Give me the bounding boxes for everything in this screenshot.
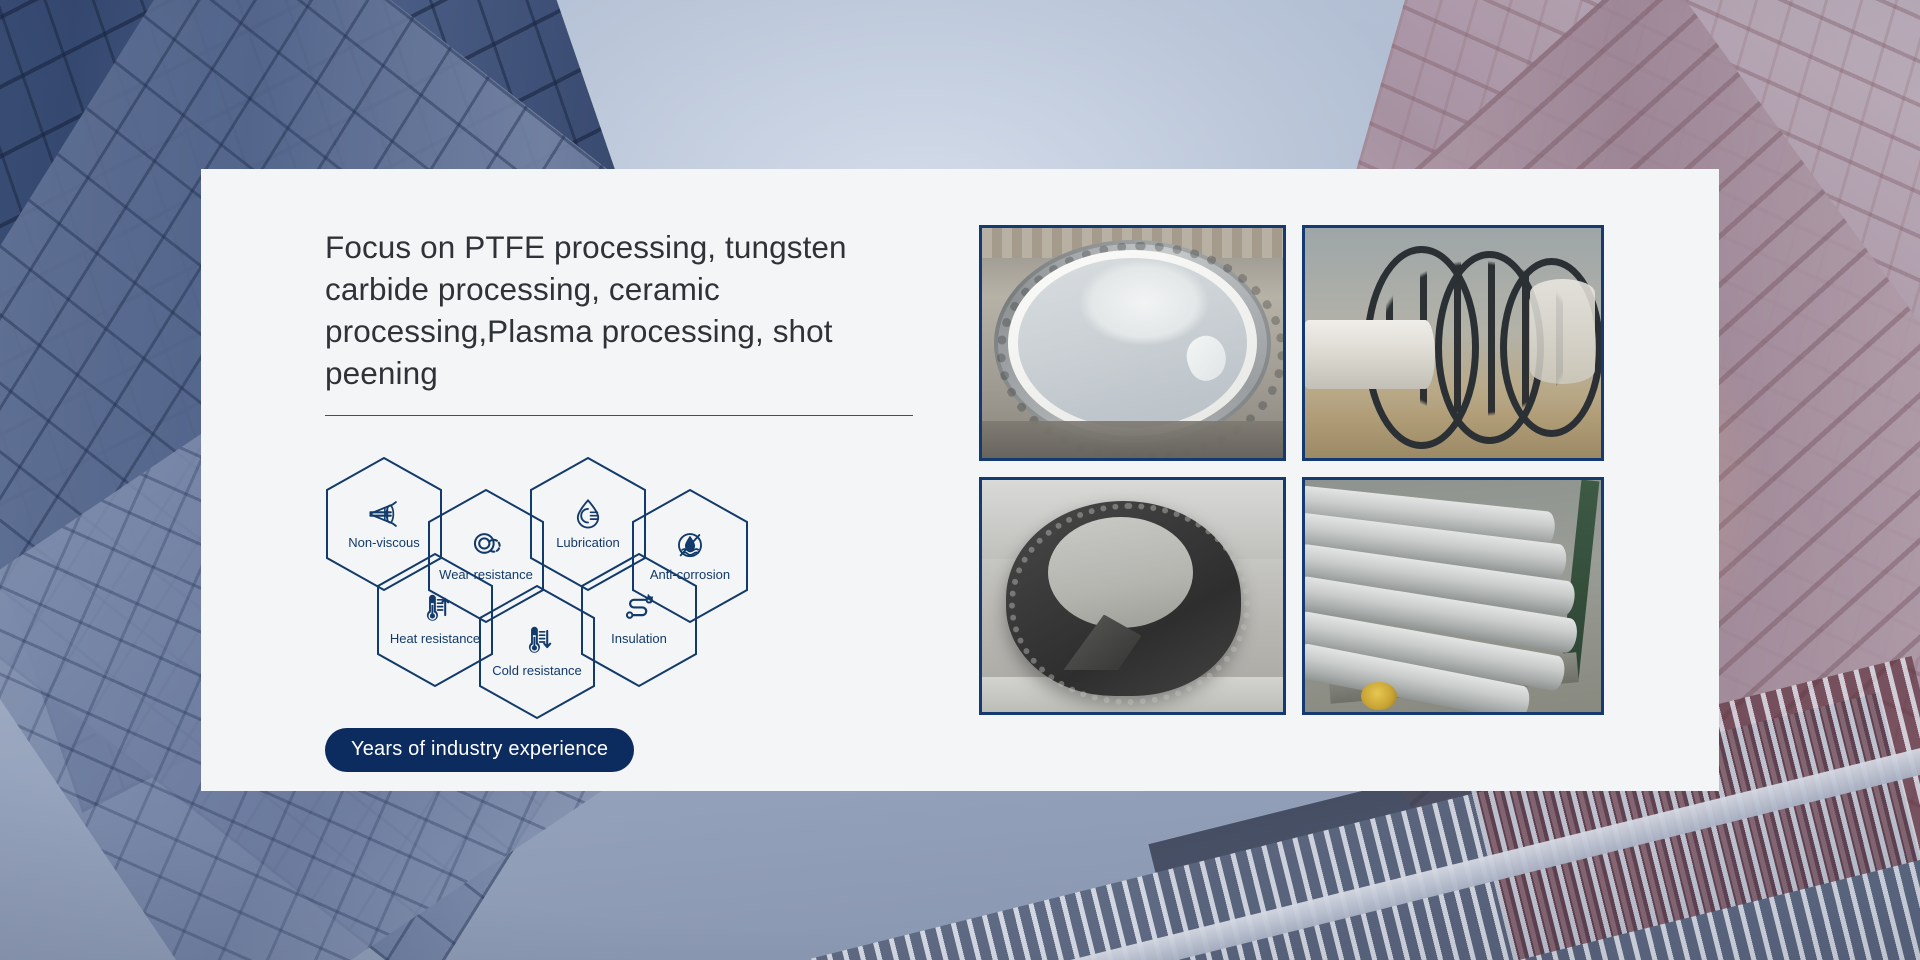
content-card: Focus on PTFE processing, tungsten carbi… [201,169,1719,791]
funnel-nonviscous-icon [367,497,401,531]
gallery-image-steel-drum-cage-frame[interactable] [1302,225,1604,461]
title-divider [325,415,913,416]
page-title: Focus on PTFE processing, tungsten carbi… [325,227,925,395]
thermometer-down-icon [520,625,554,659]
thermometer-up-icon [418,593,452,627]
oil-drop-icon [571,497,605,531]
years-of-industry-experience-button[interactable]: Years of industry experience [325,728,634,772]
gallery-image-ptfe-lined-cone-vessel[interactable] [979,225,1286,461]
gallery-image-graphite-flange-housing[interactable] [979,477,1286,715]
card-left-column: Focus on PTFE processing, tungsten carbi… [201,169,961,791]
feature-label: Insulation [611,631,667,646]
feature-hex-insulation[interactable]: Insulation [580,552,698,688]
feature-label: Cold resistance [492,663,582,678]
circuit-path-icon [622,593,656,627]
feature-label: Heat resistance [390,631,480,646]
feature-hex-heat-resistance[interactable]: Heat resistance [376,552,494,688]
gallery-image-steel-roller-batch[interactable] [1302,477,1604,715]
feature-hex-grid: Non-viscous [325,456,885,706]
feature-label: Lubrication [556,535,620,550]
hero-banner: Focus on PTFE processing, tungsten carbi… [0,0,1920,960]
product-gallery [979,169,1719,791]
feature-label: Non-viscous [348,535,420,550]
feature-hex-cold-resistance[interactable]: Cold resistance [478,584,596,720]
